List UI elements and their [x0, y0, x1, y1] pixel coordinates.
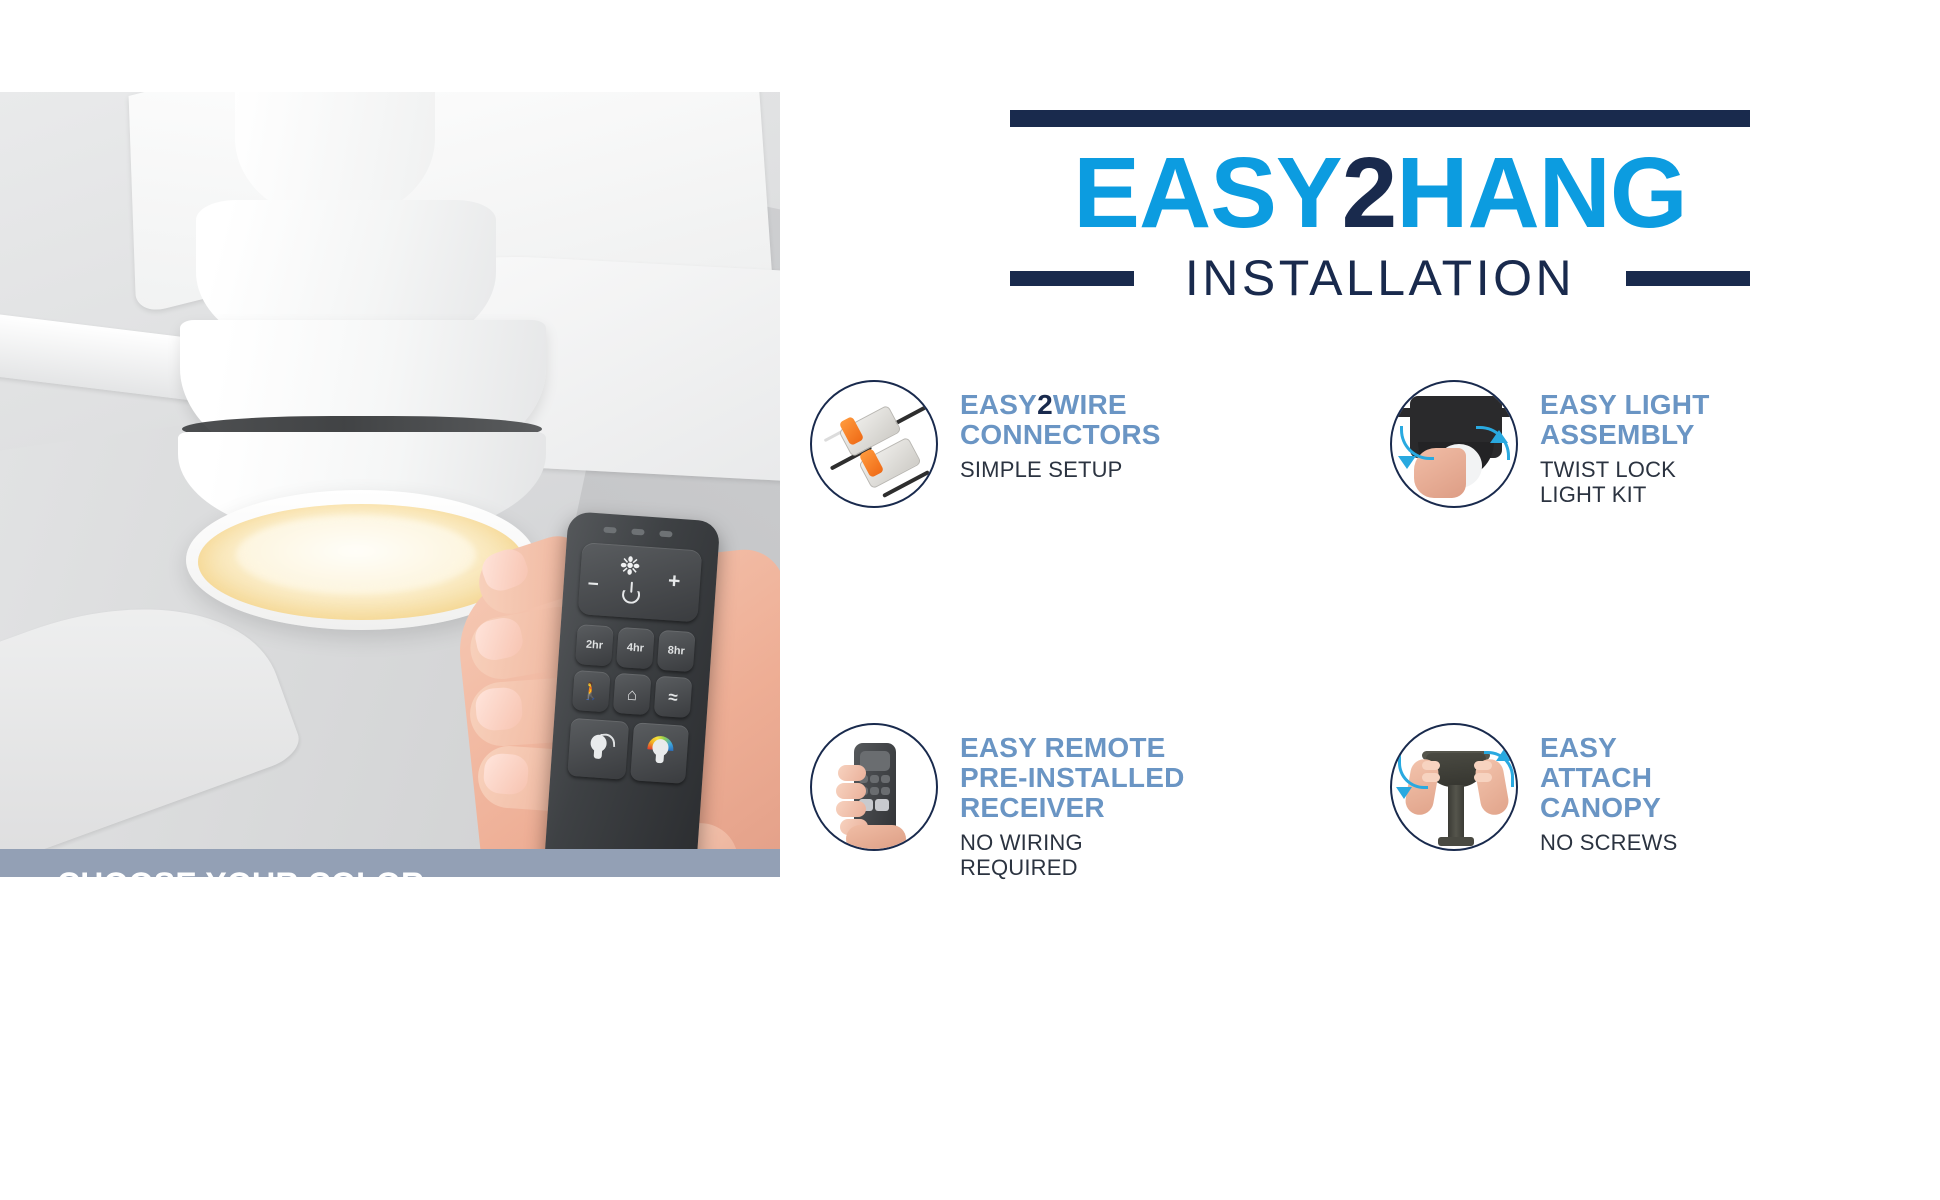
product-photo-panel: ❉ − + 2hr 4hr 8hr 🚶 ⌂ ≈ — [0, 92, 780, 877]
feature-text: EASY ATTACH CANOPY NO SCREWS — [1540, 723, 1677, 855]
feature-heading-accent: 2 — [1037, 389, 1053, 420]
logo-rule-top — [1010, 110, 1750, 127]
remote-in-hand-icon — [810, 723, 938, 851]
feature-heading-part2: WIRE — [1053, 389, 1127, 420]
feature-heading-part1: EASY — [1540, 732, 1617, 763]
logo-wordmark: EASY2HANG — [1010, 143, 1750, 243]
light-assembly-icon — [1390, 380, 1518, 508]
easy2hang-logo: EASY2HANG INSTALLATION — [1010, 110, 1750, 303]
logo-two: 2 — [1342, 137, 1397, 249]
fingernail-4 — [483, 753, 530, 796]
feature-heading-line2: ASSEMBLY — [1540, 420, 1710, 450]
fan-blade-icon: ❉ — [616, 553, 644, 581]
feature-attach-canopy: EASY ATTACH CANOPY NO SCREWS — [1390, 723, 1940, 880]
fingernail-3 — [475, 686, 524, 731]
home-icon[interactable]: ⌂ — [613, 673, 652, 715]
walk-icon[interactable]: 🚶 — [572, 670, 611, 712]
logo-rule-left — [1010, 271, 1134, 286]
feature-text: EASY LIGHT ASSEMBLY TWIST LOCK LIGHT KIT — [1540, 380, 1710, 507]
feature-text: EASY2WIRE CONNECTORS SIMPLE SETUP — [960, 380, 1161, 482]
feature-subtext: NO WIRING REQUIRED — [960, 830, 1185, 880]
logo-subtitle-row: INSTALLATION — [1010, 253, 1750, 303]
banner-line-1: CHOOSE YOUR COLOR — [57, 865, 697, 877]
canopy-attach-icon — [1390, 723, 1518, 851]
remote-led-3 — [659, 531, 672, 538]
logo-easy: EASY — [1073, 137, 1341, 249]
feature-heading-part1: EASY LIGHT — [1540, 389, 1710, 420]
timer-8hr-button[interactable]: 8hr — [657, 630, 696, 672]
feature-heading-line2: CONNECTORS — [960, 420, 1161, 450]
logo-subtitle: INSTALLATION — [1152, 253, 1608, 303]
feature-text: EASY REMOTE PRE-INSTALLED RECEIVER NO WI… — [960, 723, 1185, 880]
feature-grid: EASY2WIRE CONNECTORS SIMPLE SETUP — [810, 380, 1940, 880]
light-kit-highlight — [236, 516, 476, 594]
breeze-icon[interactable]: ≈ — [654, 676, 693, 718]
marketing-infographic: ❉ − + 2hr 4hr 8hr 🚶 ⌂ ≈ — [0, 0, 1940, 1200]
fan-speed-up-button[interactable]: + — [667, 570, 681, 592]
feature-heading: EASY LIGHT ASSEMBLY — [1540, 390, 1710, 450]
feature-heading: EASY REMOTE PRE-INSTALLED RECEIVER — [960, 733, 1185, 823]
color-temperature-bulb-icon[interactable] — [630, 722, 689, 784]
feature-subtext: NO SCREWS — [1540, 830, 1677, 855]
feature-heading: EASY2WIRE CONNECTORS — [960, 390, 1161, 450]
color-temperature-banner-text: CHOOSE YOUR COLOR TEMPERATURE WITH EASE — [57, 865, 697, 877]
feature-heading-line2: PRE-INSTALLED RECEIVER — [960, 763, 1185, 823]
feature-heading: EASY ATTACH CANOPY — [1540, 733, 1677, 823]
feature-subtext: SIMPLE SETUP — [960, 457, 1161, 482]
light-power-icon[interactable] — [567, 718, 629, 780]
remote-led-1 — [603, 527, 616, 534]
remote-control: ❉ − + 2hr 4hr 8hr 🚶 ⌂ ≈ — [544, 511, 721, 877]
feature-subtext: TWIST LOCK LIGHT KIT — [1540, 457, 1710, 507]
logo-rule-right — [1626, 271, 1750, 286]
color-temperature-banner: CHOOSE YOUR COLOR TEMPERATURE WITH EASE — [0, 849, 780, 877]
wire-connectors-icon — [810, 380, 938, 508]
feature-wire-connectors: EASY2WIRE CONNECTORS SIMPLE SETUP — [810, 380, 1360, 508]
feature-light-assembly: EASY LIGHT ASSEMBLY TWIST LOCK LIGHT KIT — [1390, 380, 1940, 508]
feature-remote-receiver: EASY REMOTE PRE-INSTALLED RECEIVER NO WI… — [810, 723, 1360, 880]
feature-heading-part1: EASY — [960, 389, 1037, 420]
remote-led-2 — [631, 529, 644, 536]
fan-speed-down-button[interactable]: − — [587, 575, 599, 595]
feature-heading-line2: ATTACH CANOPY — [1540, 763, 1677, 823]
feature-heading-part1: EASY REMOTE — [960, 732, 1166, 763]
easy2hang-panel: EASY2HANG INSTALLATION — [790, 0, 1940, 1200]
timer-4hr-button[interactable]: 4hr — [616, 627, 655, 669]
timer-2hr-button[interactable]: 2hr — [575, 624, 614, 666]
logo-hang: HANG — [1396, 137, 1686, 249]
